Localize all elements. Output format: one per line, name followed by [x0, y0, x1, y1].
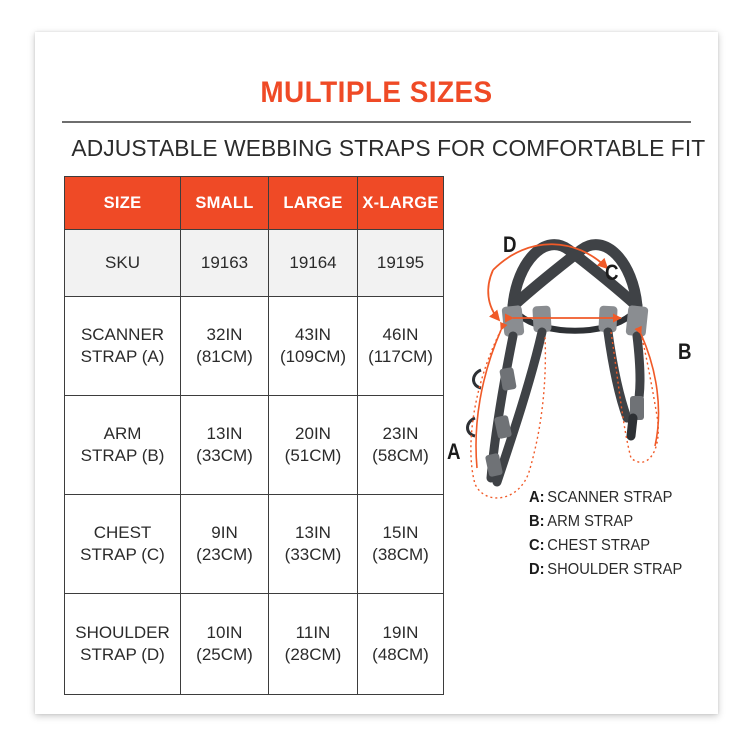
legend-key-d: D: — [529, 561, 545, 578]
table-row: CHEST STRAP (C) 9IN (23CM) 13IN (33CM) 1… — [65, 495, 444, 594]
callout-a-label: A — [447, 439, 461, 465]
row-label-line2: STRAP (D) — [65, 644, 180, 666]
row-label: SCANNER STRAP (A) — [65, 297, 181, 396]
measure-d-arrow-down — [488, 270, 499, 320]
value-line1: 43IN — [269, 324, 357, 346]
page-subtitle: ADJUSTABLE WEBBING STRAPS FOR COMFORTABL… — [71, 135, 681, 162]
value-line2: (38CM) — [358, 544, 443, 566]
value-line1: 19164 — [269, 253, 357, 273]
value-line1: 19195 — [358, 253, 443, 273]
column-header-small: SMALL — [181, 177, 269, 230]
value-line1: 46IN — [358, 324, 443, 346]
loop-1 — [474, 370, 482, 388]
value-line2: (109CM) — [269, 346, 357, 368]
row-value-xlarge: 15IN (38CM) — [358, 495, 444, 594]
harness-illustration — [441, 210, 711, 500]
row-label-line2: STRAP (C) — [65, 544, 180, 566]
row-label-line2: STRAP (B) — [65, 445, 180, 467]
row-value-small: 19163 — [181, 230, 269, 297]
row-label: ARM STRAP (B) — [65, 396, 181, 495]
legend-key-c: C: — [529, 537, 545, 554]
row-label: SKU — [65, 230, 181, 297]
value-line1: 13IN — [181, 423, 268, 445]
row-value-small: 32IN (81CM) — [181, 297, 269, 396]
value-line2: (51CM) — [269, 445, 357, 467]
value-line2: (23CM) — [181, 544, 268, 566]
infographic-root: MULTIPLE SIZES ADJUSTABLE WEBBING STRAPS… — [0, 0, 750, 750]
legend-item-c: C:CHEST STRAP — [529, 534, 682, 558]
value-line1: 19163 — [181, 253, 268, 273]
legend-key-a: A: — [529, 489, 545, 506]
row-label-line1: SKU — [65, 253, 180, 273]
column-header-large: LARGE — [269, 177, 358, 230]
row-label-line2: STRAP (A) — [65, 346, 180, 368]
value-line1: 19IN — [358, 622, 443, 644]
value-line1: 23IN — [358, 423, 443, 445]
row-label-line1: SCANNER — [65, 324, 180, 346]
legend-key-b: B: — [529, 513, 545, 530]
row-value-small: 9IN (23CM) — [181, 495, 269, 594]
row-value-xlarge: 23IN (58CM) — [358, 396, 444, 495]
value-line1: 15IN — [358, 522, 443, 544]
column-header-size: SIZE — [65, 177, 181, 230]
value-line2: (25CM) — [181, 644, 268, 666]
legend-item-b: B:ARM STRAP — [529, 510, 682, 534]
table-row: SCANNER STRAP (A) 32IN (81CM) 43IN (109C… — [65, 297, 444, 396]
row-label: SHOULDER STRAP (D) — [65, 594, 181, 695]
value-line1: 20IN — [269, 423, 357, 445]
page-title: MULTIPLE SIZES — [59, 76, 694, 110]
value-line2: (33CM) — [269, 544, 357, 566]
harness-diagram — [441, 210, 711, 500]
value-line1: 11IN — [269, 622, 357, 644]
value-line2: (117CM) — [358, 346, 443, 368]
callout-c-label: C — [605, 260, 619, 286]
table-row: ARM STRAP (B) 13IN (33CM) 20IN (51CM) 23… — [65, 396, 444, 495]
value-line2: (33CM) — [181, 445, 268, 467]
table-row: SKU 19163 19164 19195 — [65, 230, 444, 297]
strap-legend: A:SCANNER STRAP B:ARM STRAP C:CHEST STRA… — [529, 486, 696, 582]
spec-card: MULTIPLE SIZES ADJUSTABLE WEBBING STRAPS… — [35, 32, 718, 714]
legend-label-d: SHOULDER STRAP — [547, 561, 682, 578]
callout-d-label: D — [503, 232, 517, 258]
row-value-xlarge: 19IN (48CM) — [358, 594, 444, 695]
value-line1: 13IN — [269, 522, 357, 544]
value-line2: (58CM) — [358, 445, 443, 467]
row-value-large: 20IN (51CM) — [269, 396, 358, 495]
table-header-row: SIZE SMALL LARGE X-LARGE — [65, 177, 444, 230]
row-value-large: 13IN (33CM) — [269, 495, 358, 594]
value-line1: 32IN — [181, 324, 268, 346]
legend-item-a: A:SCANNER STRAP — [529, 486, 682, 510]
row-label: CHEST STRAP (C) — [65, 495, 181, 594]
value-line2: (81CM) — [181, 346, 268, 368]
table-row: SHOULDER STRAP (D) 10IN (25CM) 11IN (28C… — [65, 594, 444, 695]
legend-label-b: ARM STRAP — [547, 513, 633, 530]
row-value-small: 10IN (25CM) — [181, 594, 269, 695]
arm-strap-tail — [631, 418, 633, 436]
value-line2: (28CM) — [269, 644, 357, 666]
row-value-small: 13IN (33CM) — [181, 396, 269, 495]
legend-label-a: SCANNER STRAP — [547, 489, 672, 506]
row-value-large: 43IN (109CM) — [269, 297, 358, 396]
row-value-large: 11IN (28CM) — [269, 594, 358, 695]
loop-2 — [468, 418, 476, 436]
row-value-xlarge: 19195 — [358, 230, 444, 297]
row-label-line1: SHOULDER — [65, 622, 180, 644]
arm-strap-inner — [608, 332, 627, 418]
row-value-xlarge: 46IN (117CM) — [358, 297, 444, 396]
value-line1: 9IN — [181, 522, 268, 544]
title-divider — [62, 121, 691, 123]
value-line2: (48CM) — [358, 644, 443, 666]
legend-item-d: D:SHOULDER STRAP — [529, 558, 682, 582]
column-header-xlarge: X-LARGE — [358, 177, 444, 230]
size-spec-table: SIZE SMALL LARGE X-LARGE SKU 19163 19164 — [64, 176, 444, 695]
row-value-large: 19164 — [269, 230, 358, 297]
scanner-strap-sliders — [468, 367, 517, 477]
row-label-line1: ARM — [65, 423, 180, 445]
callout-b-label: B — [678, 339, 692, 365]
legend-label-c: CHEST STRAP — [547, 537, 650, 554]
value-line1: 10IN — [181, 622, 268, 644]
row-label-line1: CHEST — [65, 522, 180, 544]
